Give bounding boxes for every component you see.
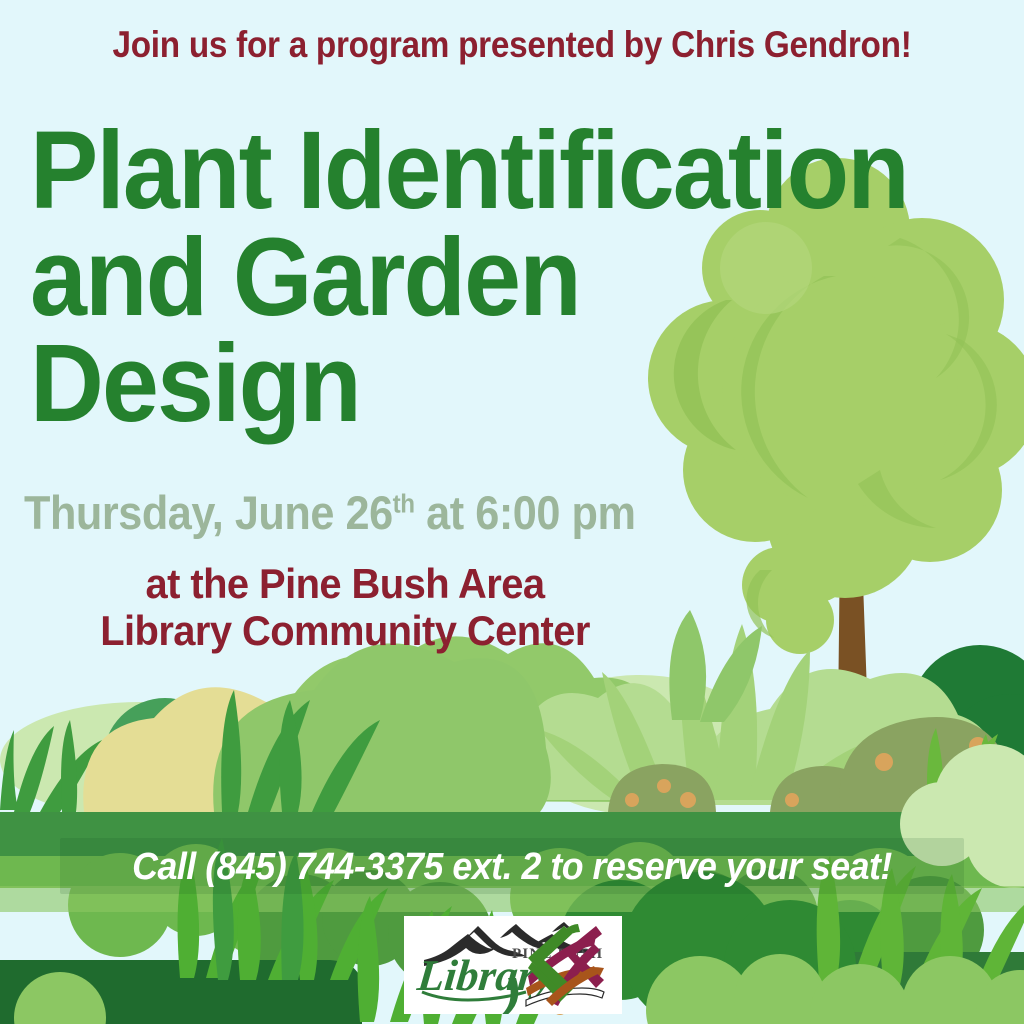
event-date-time: Thursday, June 26th at 6:00 pm bbox=[24, 485, 635, 540]
date-time-suffix: at 6:00 pm bbox=[415, 486, 636, 539]
venue-line-1: at the Pine Bush Area bbox=[17, 560, 673, 607]
venue-line-2: Library Community Center bbox=[17, 607, 673, 654]
cta-reservation-line: Call (845) 744-3375 ext. 2 to reserve yo… bbox=[31, 846, 994, 889]
title-line-1: Plant Identification bbox=[30, 118, 941, 225]
date-ordinal-suffix: th bbox=[393, 488, 415, 518]
date-prefix: Thursday, June 26 bbox=[24, 486, 393, 539]
presenter-line: Join us for a program presented by Chris… bbox=[51, 24, 973, 66]
event-venue: at the Pine Bush Area Library Community … bbox=[17, 560, 673, 654]
title-line-2: and Garden bbox=[30, 225, 941, 332]
pine-bush-library-logo: PINE BUSH Library bbox=[404, 916, 622, 1014]
page-title: Plant Identification and Garden Design bbox=[30, 118, 941, 438]
title-line-3: Design bbox=[30, 331, 941, 438]
poster-canvas: Join us for a program presented by Chris… bbox=[0, 0, 1024, 1024]
